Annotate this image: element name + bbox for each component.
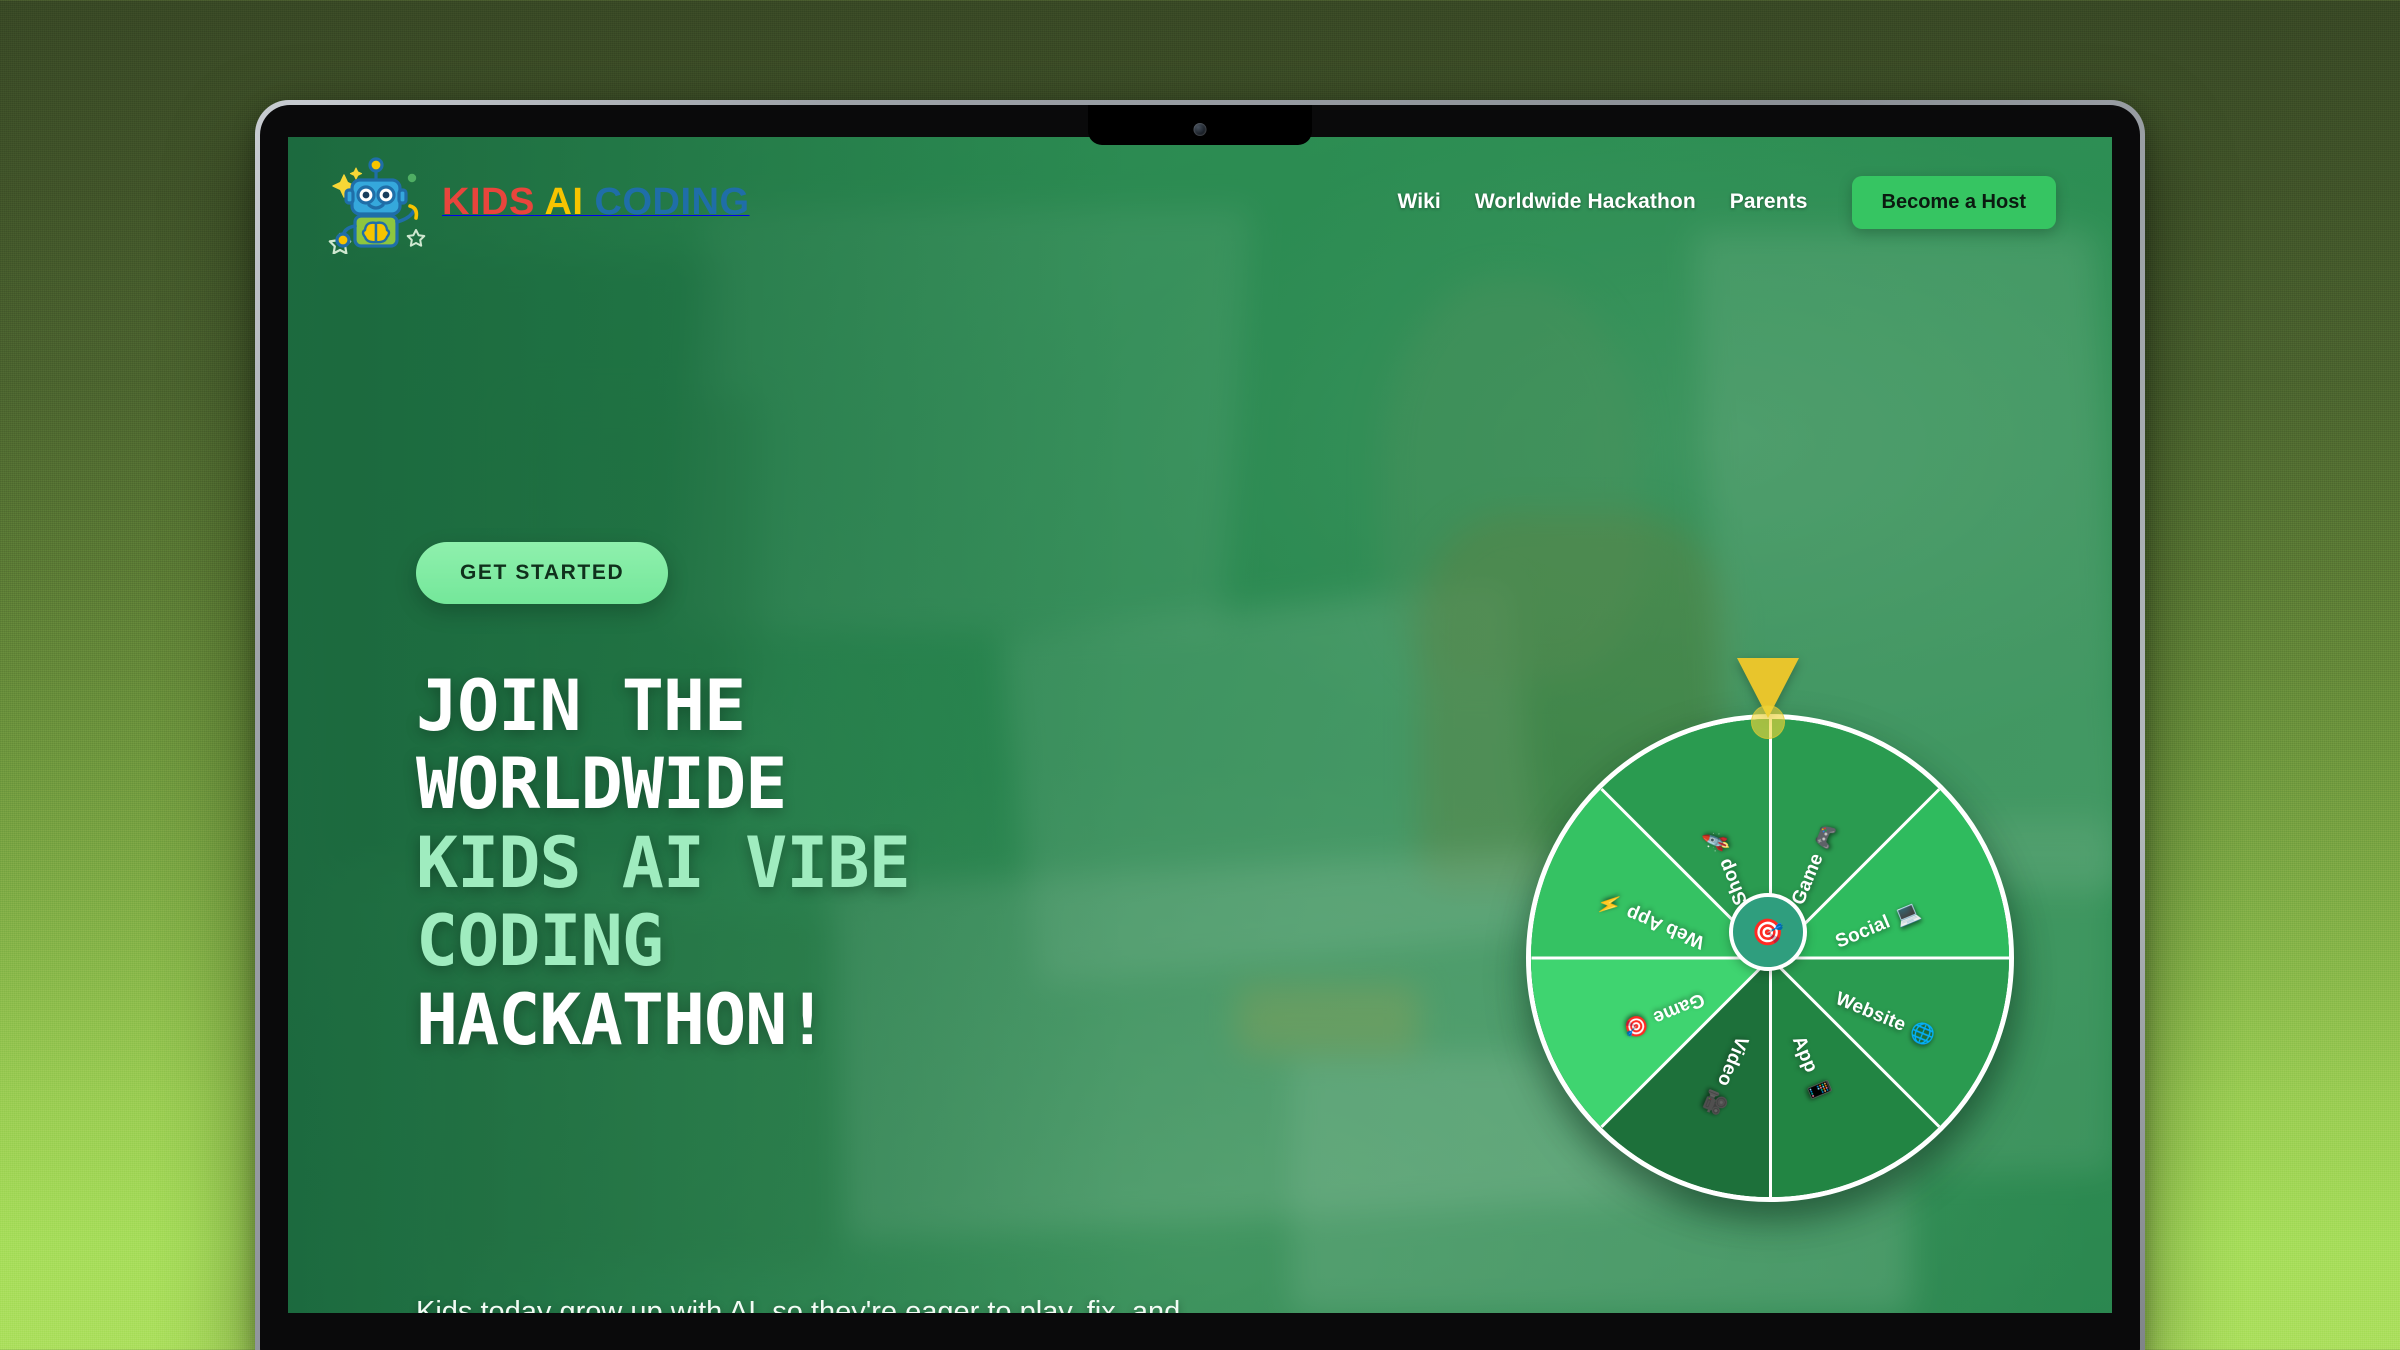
site-header: KIDS AI CODING Wiki Worldwide Hackathon … — [288, 137, 2112, 267]
wheel-pointer — [1737, 658, 1799, 736]
nav-item-wiki[interactable]: Wiki — [1397, 190, 1440, 214]
wheel-center-hub[interactable]: 🎯 — [1729, 893, 1807, 971]
wheel-divider — [1770, 957, 2009, 960]
brand-kids-text: KIDS — [442, 181, 535, 223]
get-started-button[interactable]: GET STARTED — [416, 542, 668, 604]
headline-line-4: CODING — [416, 902, 1316, 980]
become-a-host-button[interactable]: Become a Host — [1852, 176, 2057, 229]
brand-logo[interactable]: KIDS AI CODING — [324, 150, 750, 254]
browser-viewport: KIDS AI CODING Wiki Worldwide Hackathon … — [288, 137, 2112, 1313]
headline-line-1: JOIN THE — [416, 667, 1316, 745]
hero-section: GET STARTED JOIN THE WORLDWIDE KIDS AI V… — [288, 267, 2112, 1313]
wheel-divider — [1531, 957, 1770, 960]
laptop-mockup: KIDS AI CODING Wiki Worldwide Hackathon … — [255, 100, 2145, 1350]
hero-paragraph: Kids today grow up with AI, so they're e… — [416, 1292, 1216, 1313]
brand-coding-text: CODING — [595, 181, 750, 223]
brand-ai-text: AI — [544, 181, 583, 223]
hero-headline: JOIN THE WORLDWIDE KIDS AI VIBE CODING H… — [416, 667, 1316, 1059]
nav-item-parents[interactable]: Parents — [1730, 190, 1808, 214]
dart-target-icon: 🎯 — [1752, 917, 1784, 948]
laptop-lid: KIDS AI CODING Wiki Worldwide Hackathon … — [255, 100, 2145, 1350]
main-navigation: Wiki Worldwide Hackathon Parents Become … — [1397, 176, 2056, 229]
wheel-divider — [1769, 958, 1772, 1197]
camera-dot-icon — [1194, 123, 1207, 136]
laptop-bezel: KIDS AI CODING Wiki Worldwide Hackathon … — [260, 105, 2140, 1350]
spin-wheel-widget[interactable]: Game🎮Social💻Website🌐App📱Video🎥Game🎯Web A… — [1508, 652, 2028, 1212]
laptop-notch — [1088, 105, 1312, 145]
pointer-pivot-dot — [1751, 705, 1785, 739]
headline-line-5: HACKATHON! — [416, 981, 1316, 1059]
nav-item-worldwide-hackathon[interactable]: Worldwide Hackathon — [1475, 190, 1696, 214]
headline-line-3: KIDS AI VIBE — [416, 824, 1316, 902]
robot-icon — [324, 150, 428, 254]
brand-wordmark: KIDS AI CODING — [442, 183, 750, 221]
headline-line-2: WORLDWIDE — [416, 745, 1316, 823]
